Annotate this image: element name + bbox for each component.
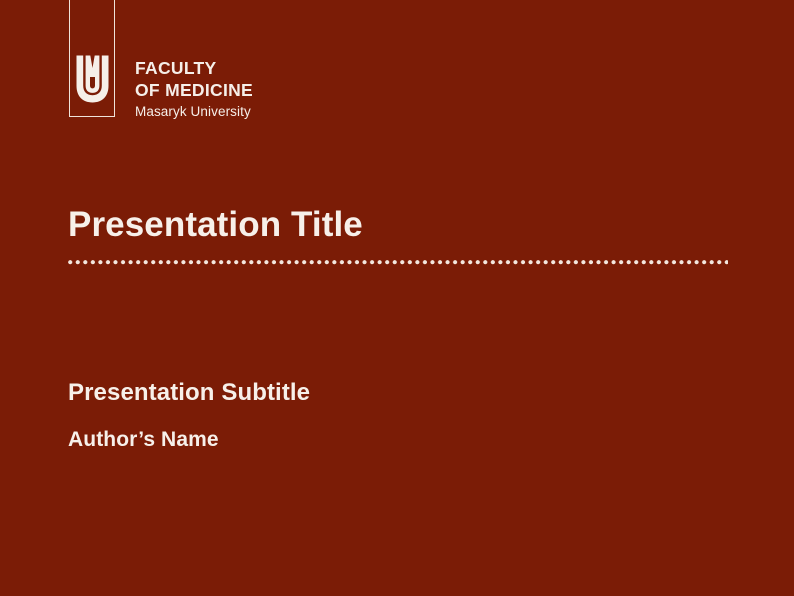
logo-line-of-medicine: OF MEDICINE [135, 79, 365, 101]
logo-wordmark: FACULTY OF MEDICINE Masaryk University [135, 57, 365, 122]
logo-lockup: FACULTY OF MEDICINE Masaryk University [69, 0, 369, 120]
logo-line-masaryk-university: Masaryk University [135, 102, 365, 122]
presentation-subtitle: Presentation Subtitle [68, 379, 310, 407]
title-slide: FACULTY OF MEDICINE Masaryk University P… [0, 0, 794, 596]
masaryk-university-mu-monogram-icon [76, 55, 109, 103]
logo-line-faculty: FACULTY [135, 57, 365, 79]
presentation-title: Presentation Title [68, 205, 363, 245]
author-name: Author’s Name [68, 428, 219, 452]
dotted-divider [68, 260, 728, 265]
